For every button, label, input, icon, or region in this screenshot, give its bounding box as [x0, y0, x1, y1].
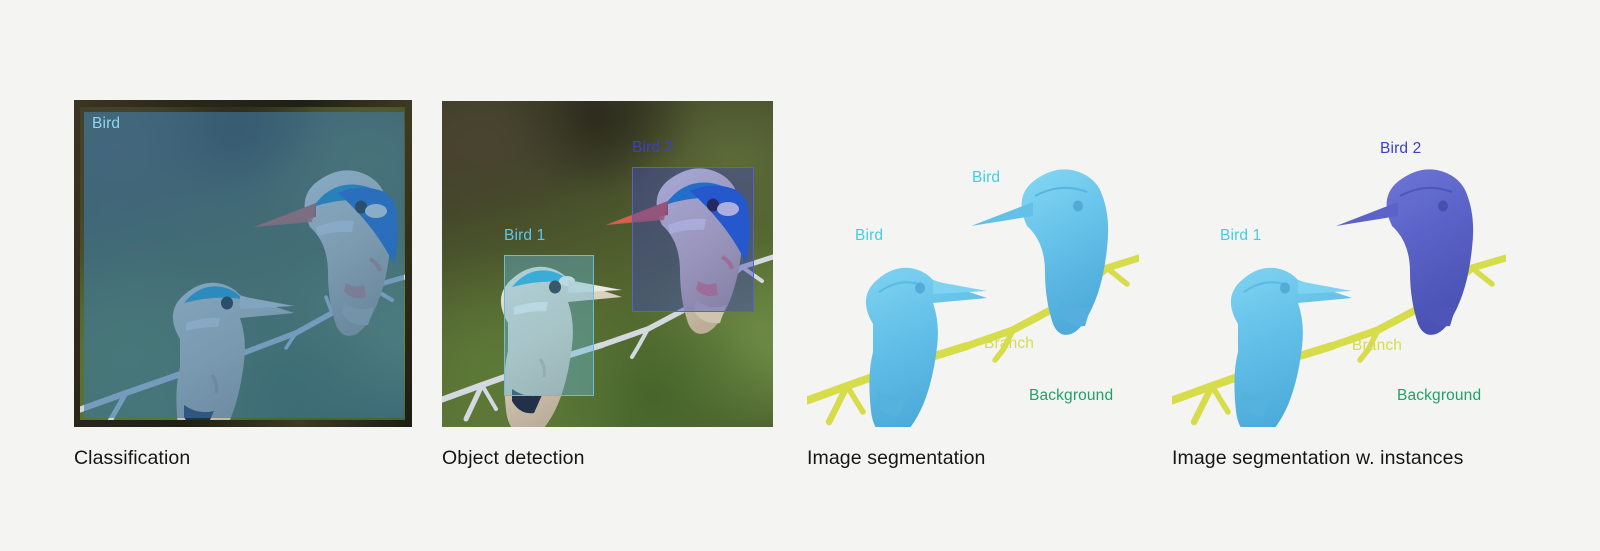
- detection-box-bird-2[interactable]: [632, 167, 754, 312]
- caption-object-detection: Object detection: [442, 447, 585, 470]
- caption-image-segmentation-instances: Image segmentation w. instances: [1172, 447, 1463, 470]
- caption-image-segmentation: Image segmentation: [807, 447, 986, 470]
- panel-image-segmentation[interactable]: Bird Bird Branch Background: [807, 102, 1139, 427]
- instance-label-bird-1: Bird 1: [1220, 227, 1261, 245]
- instance-label-bird-2: Bird 2: [1380, 140, 1421, 158]
- classification-scene: Bird: [74, 100, 412, 427]
- segmentation-label-background: Background: [1029, 387, 1113, 405]
- segmentation-label-bird-left: Bird: [855, 227, 883, 245]
- computer-vision-tasks-figure: Bird Classification: [0, 0, 1600, 551]
- instance-label-background: Background: [1397, 387, 1481, 405]
- caption-classification: Classification: [74, 447, 190, 470]
- segmentation-label-branch: Branch: [984, 335, 1034, 353]
- detection-box-bird-1[interactable]: [504, 255, 594, 396]
- background-mask: [807, 102, 1139, 427]
- classification-label-bird: Bird: [92, 115, 120, 133]
- background-mask: [1172, 102, 1506, 427]
- segmentation-scene: Bird Bird Branch Background: [807, 102, 1139, 427]
- classification-overlay: [84, 112, 404, 418]
- panel-image-segmentation-instances[interactable]: Bird 2 Bird 1 Branch Background: [1172, 102, 1506, 427]
- segmentation-label-bird-right: Bird: [972, 169, 1000, 187]
- panel-classification[interactable]: Bird: [74, 100, 412, 427]
- instance-label-branch: Branch: [1352, 337, 1402, 355]
- panel-object-detection[interactable]: Bird 2 Bird 1: [442, 101, 773, 427]
- object-detection-scene: Bird 2 Bird 1: [442, 101, 773, 427]
- detection-label-bird-1: Bird 1: [504, 227, 545, 245]
- detection-label-bird-2: Bird 2: [632, 139, 673, 157]
- instance-segmentation-scene: Bird 2 Bird 1 Branch Background: [1172, 102, 1506, 427]
